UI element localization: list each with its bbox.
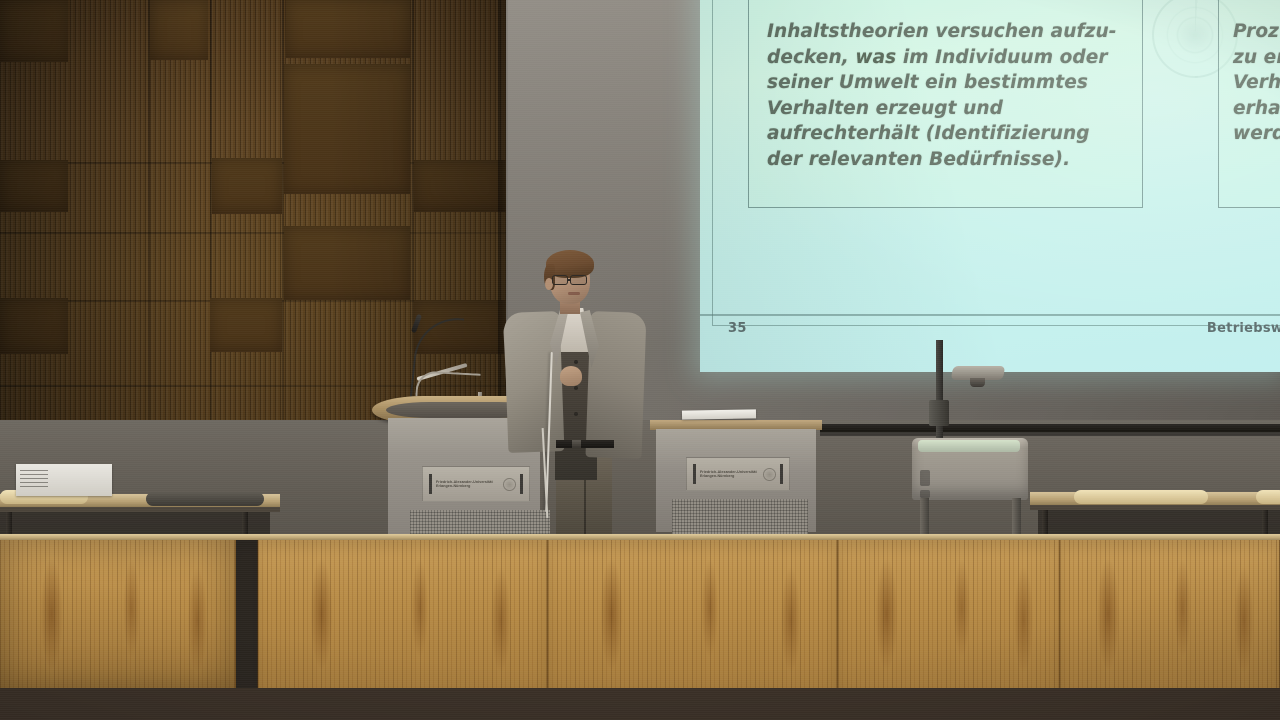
slide-left-text: Inhaltstheorien versuchen aufzu- decken,… <box>749 0 1142 172</box>
slide-text-box-left: Inhaltstheorien versuchen aufzu- decken,… <box>748 0 1143 208</box>
barrier-panel <box>838 540 1060 688</box>
overhead-projector <box>908 340 1036 540</box>
second-lectern-plaque: Friedrich-Alexander-Universität Erlangen… <box>686 457 790 491</box>
slide-text-box-right: Proz zu er Verh erha werd <box>1218 0 1280 208</box>
barrier-gap <box>236 540 258 688</box>
lecture-hall-scene: Inhaltstheorien versuchen aufzu- decken,… <box>0 0 1280 720</box>
slide-footer-text: Betriebswi <box>1207 321 1280 336</box>
equipment-case-left <box>146 492 264 506</box>
blackboard-rail <box>820 424 1280 432</box>
ohp-vent-secondary <box>920 490 930 498</box>
ohp-lens-icon <box>970 378 985 387</box>
bench-cushion-far-right <box>1256 490 1280 504</box>
barrier-panel <box>548 540 838 688</box>
eyeglasses-icon <box>552 275 568 285</box>
barrier-panel <box>258 540 548 688</box>
paper-lines <box>20 470 48 488</box>
slide-page-number: 35 <box>728 321 747 336</box>
lecturer-person <box>500 248 660 538</box>
second-lectern-body: Friedrich-Alexander-Universität Erlangen… <box>656 429 816 532</box>
lecturer-belt <box>556 440 614 448</box>
ohp-collar <box>929 400 949 426</box>
papers-on-lectern <box>682 409 756 419</box>
plaque-seal-icon <box>763 468 776 481</box>
blackboard-rail-shadow <box>820 432 1280 436</box>
ohp-vent <box>920 470 930 486</box>
lecturer-hand <box>560 366 582 386</box>
second-plaque-line2: Erlangen-Nürnberg <box>700 474 759 478</box>
slide-right-text: Proz zu er Verh erha werd <box>1219 0 1280 147</box>
ohp-glass-platen <box>918 440 1020 452</box>
projection-screen: Inhaltstheorien versuchen aufzu- decken,… <box>700 0 1280 372</box>
belt-buckle-icon <box>572 440 581 448</box>
lecturer-mouth <box>568 292 580 295</box>
barrier-panel <box>0 540 236 688</box>
front-wood-barrier <box>0 534 1280 694</box>
barrier-panel <box>1060 540 1280 688</box>
podium-plaque-line2: Erlangen-Nürnberg <box>436 484 499 488</box>
bench-cushion-right <box>1074 490 1208 504</box>
second-lectern: Friedrich-Alexander-Universität Erlangen… <box>650 420 822 532</box>
slide-footer-rule <box>700 314 1280 316</box>
